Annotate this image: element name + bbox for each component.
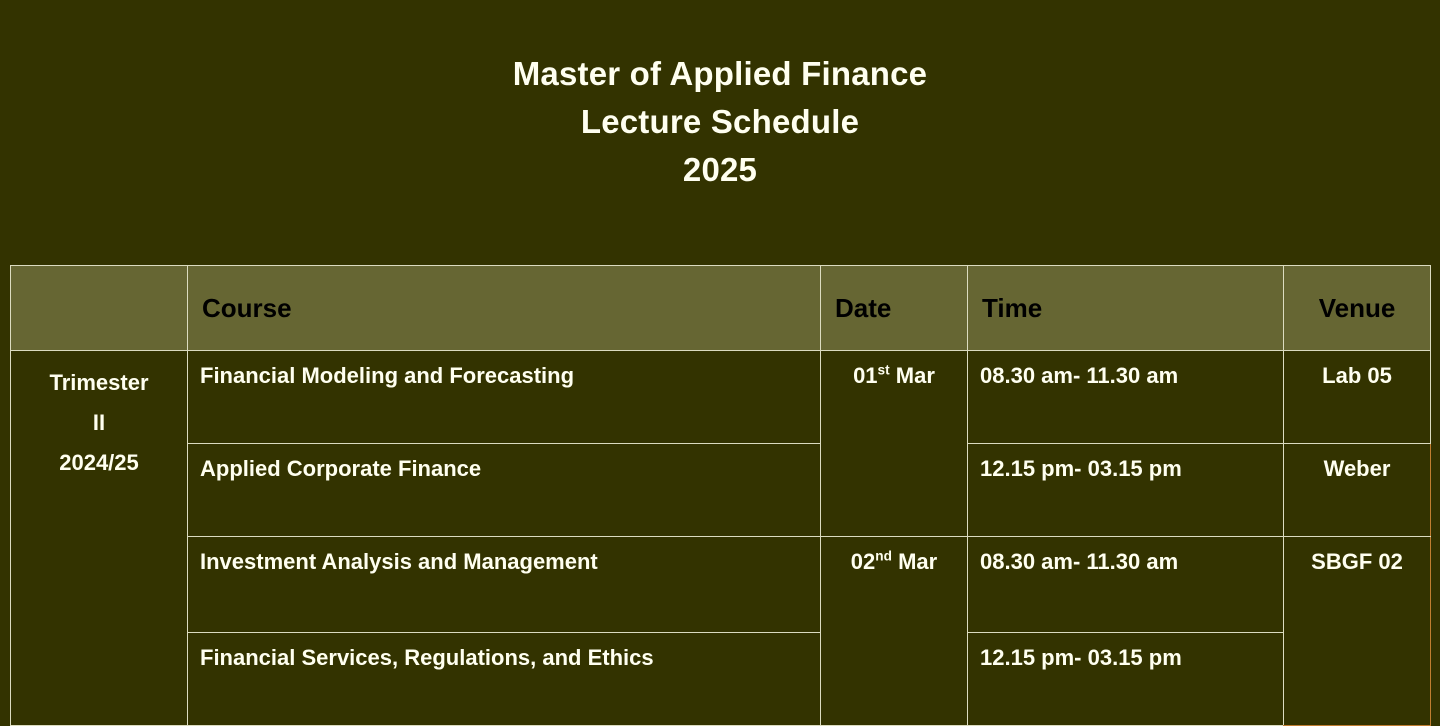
title-line-1: Master of Applied Finance	[0, 50, 1440, 98]
column-header-venue: Venue	[1284, 266, 1431, 351]
slide-canvas: Master of Applied Finance Lecture Schedu…	[0, 0, 1440, 720]
date-cell: 01st Mar	[821, 351, 968, 537]
trimester-line-1: Trimester	[11, 363, 187, 403]
trimester-line-2: II	[11, 403, 187, 443]
column-header-course: Course	[188, 266, 821, 351]
course-cell: Financial Services, Regulations, and Eth…	[188, 633, 821, 726]
trimester-cell: Trimester II 2024/25	[11, 351, 188, 726]
date-month: Mar	[898, 549, 937, 574]
column-header-date: Date	[821, 266, 968, 351]
title-line-2: Lecture Schedule	[0, 98, 1440, 146]
column-header-time: Time	[968, 266, 1284, 351]
time-cell: 12.15 pm- 03.15 pm	[968, 633, 1284, 726]
table-row: Trimester II 2024/25 Financial Modeling …	[11, 351, 1431, 444]
course-cell: Financial Modeling and Forecasting	[188, 351, 821, 444]
page-title: Master of Applied Finance Lecture Schedu…	[0, 50, 1440, 194]
table-row: Financial Services, Regulations, and Eth…	[11, 633, 1431, 726]
table-header-row: Course Date Time Venue	[11, 266, 1431, 351]
venue-cell: SBGF 02	[1284, 537, 1431, 726]
venue-cell: Weber	[1284, 444, 1431, 537]
date-ordinal-suffix: nd	[875, 549, 892, 564]
title-line-3: 2025	[0, 146, 1440, 194]
course-cell: Investment Analysis and Management	[188, 537, 821, 633]
time-cell: 12.15 pm- 03.15 pm	[968, 444, 1284, 537]
date-number: 01	[853, 363, 877, 388]
table-row: Applied Corporate Finance 12.15 pm- 03.1…	[11, 444, 1431, 537]
table-row: Investment Analysis and Management 02nd …	[11, 537, 1431, 633]
time-cell: 08.30 am- 11.30 am	[968, 537, 1284, 633]
column-header-blank	[11, 266, 188, 351]
course-cell: Applied Corporate Finance	[188, 444, 821, 537]
trimester-line-3: 2024/25	[11, 443, 187, 483]
time-cell: 08.30 am- 11.30 am	[968, 351, 1284, 444]
date-cell: 02nd Mar	[821, 537, 968, 726]
date-ordinal-suffix: st	[878, 363, 890, 378]
date-month: Mar	[896, 363, 935, 388]
date-number: 02	[851, 549, 875, 574]
lecture-schedule-table: Course Date Time Venue Trimester II 2024…	[10, 265, 1431, 726]
venue-cell: Lab 05	[1284, 351, 1431, 444]
